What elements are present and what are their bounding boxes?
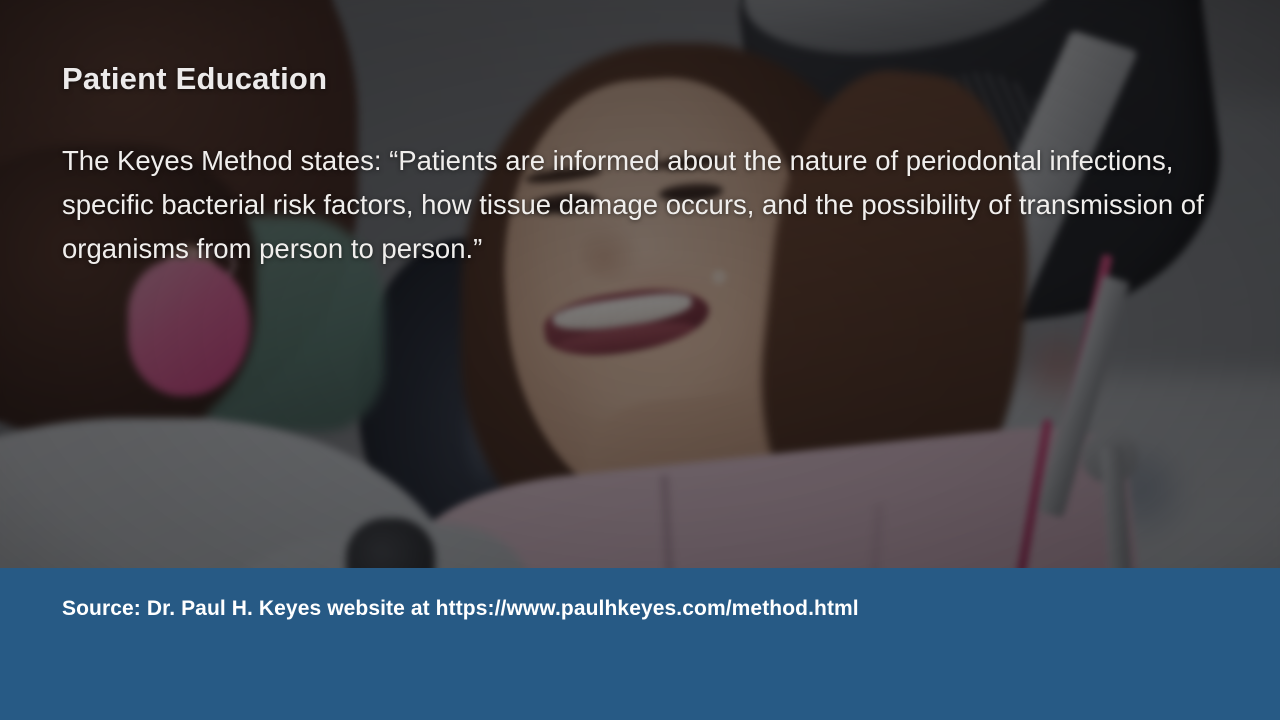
presentation-slide: Patient Education The Keyes Method state… — [0, 0, 1280, 720]
source-bar: Source: Dr. Paul H. Keyes website at htt… — [0, 568, 1280, 720]
patient-earring — [712, 270, 726, 284]
slide-content: Patient Education The Keyes Method state… — [62, 60, 1258, 271]
page-title: Patient Education — [62, 60, 1258, 99]
quote-paragraph: The Keyes Method states: “Patients are i… — [62, 139, 1252, 271]
source-citation: Source: Dr. Paul H. Keyes website at htt… — [62, 597, 859, 621]
